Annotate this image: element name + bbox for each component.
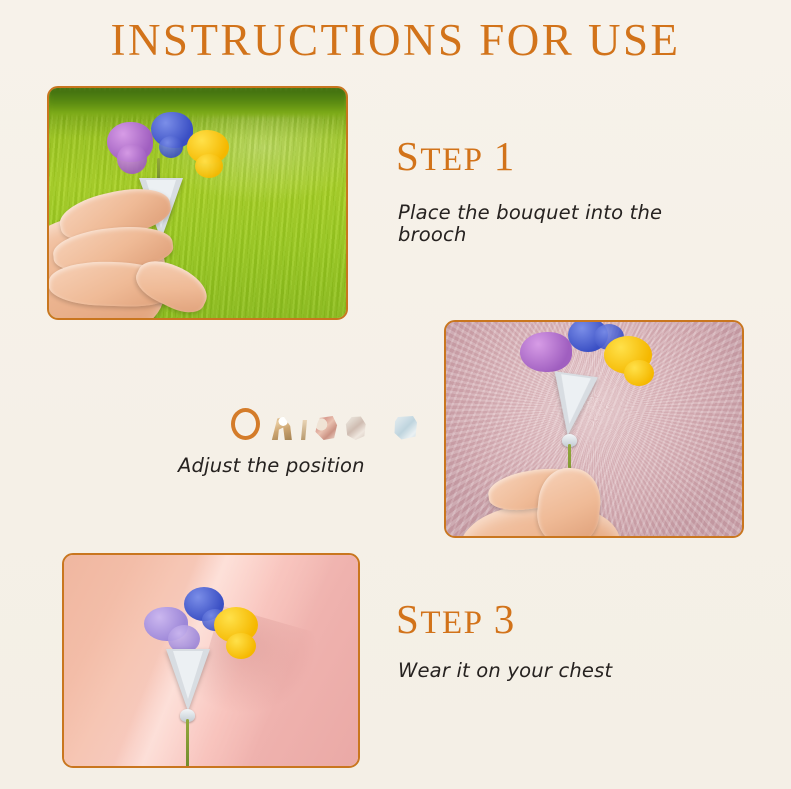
step-2-photo (444, 320, 744, 538)
step-3-heading-rest: TEP (420, 605, 483, 641)
blue-flower-2 (159, 136, 183, 158)
step-3-body: Wear it on your chest (398, 660, 728, 682)
glyph-fragment-a-icon (267, 414, 294, 440)
grass-horizon (49, 88, 346, 116)
step-3-heading: STEP 3 (396, 595, 516, 643)
step-1-heading: STEP 1 (396, 132, 516, 180)
yellow-flower-2 (226, 633, 256, 659)
glyph-fragment-d-icon (393, 415, 418, 440)
step-2-photo-inner (446, 322, 742, 536)
brooch-cone (166, 649, 210, 711)
step-1-heading-initial: S (396, 133, 420, 179)
step-3-photo (62, 553, 360, 768)
glyph-fragment-tick-icon (301, 420, 307, 440)
step-3-heading-number: 3 (494, 596, 516, 642)
step-1-photo-inner (49, 88, 346, 318)
step-1-body: Place the bouquet into the brooch (398, 202, 728, 246)
step-2-heading-glyphs (231, 406, 418, 440)
glyph-fragment-c-icon (345, 416, 367, 440)
purple-flower (520, 332, 572, 372)
purple-flower-2 (117, 144, 147, 174)
yellow-flower-2 (624, 360, 654, 386)
brooch-stem (186, 719, 189, 766)
step-3-heading-initial: S (396, 596, 420, 642)
instructions-page: INSTRUCTIONS FOR USE (0, 0, 791, 789)
step-3-photo-inner (64, 555, 358, 766)
yellow-flower-2 (195, 154, 223, 178)
brooch-cone (546, 371, 598, 439)
step-1-heading-number: 1 (494, 133, 516, 179)
glyph-fragment-b-icon (314, 416, 338, 440)
step-1-photo (47, 86, 348, 320)
glyph-ring-icon (231, 408, 260, 440)
garment-background (64, 555, 358, 766)
page-title: INSTRUCTIONS FOR USE (0, 14, 791, 66)
step-2-body: Adjust the position (178, 455, 458, 477)
step-1-heading-rest: TEP (420, 142, 483, 178)
